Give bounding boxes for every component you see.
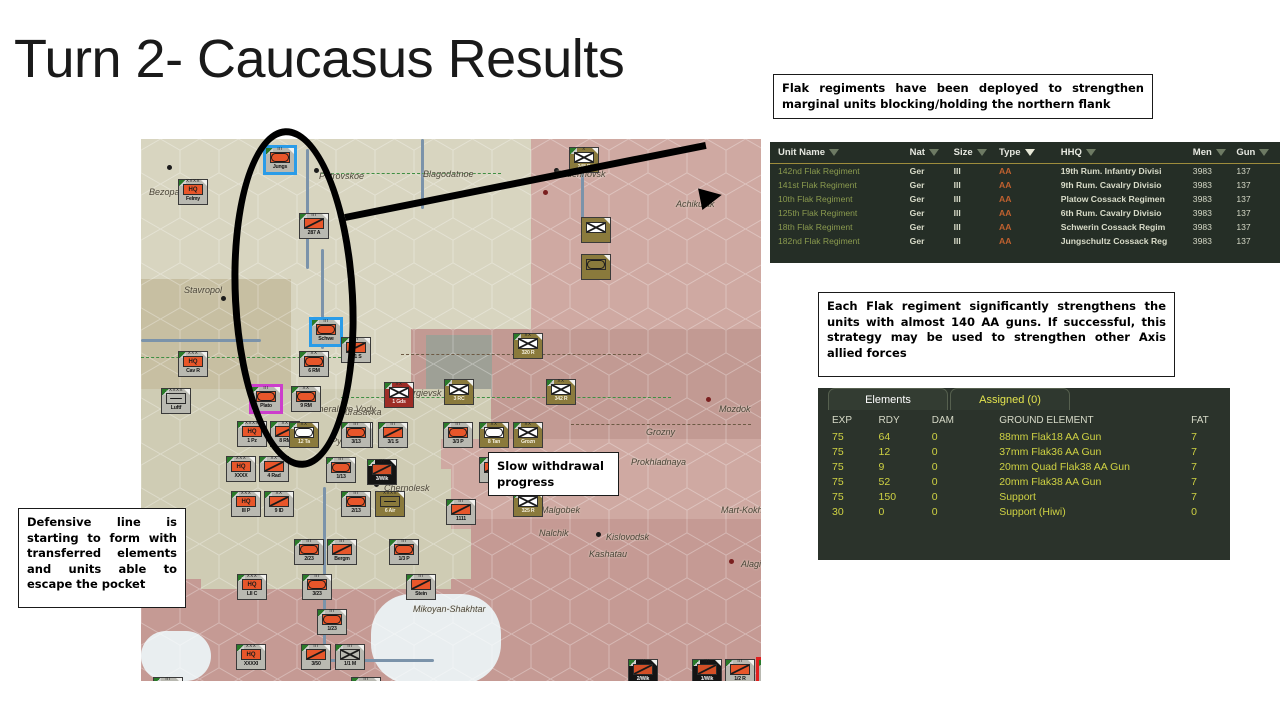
- nato-symbol-arm-icon: [332, 463, 350, 472]
- nato-symbol-inf-icon: [519, 428, 537, 437]
- counter-symbol-box: [586, 259, 606, 270]
- counter-corner-marker: [374, 678, 380, 681]
- counter-unit-label: 3/13: [351, 440, 360, 445]
- unit-counter-3-1-s[interactable]: III3/1 S: [378, 422, 408, 448]
- counter-size-label: III: [347, 644, 352, 649]
- counter-size-label: XXX: [246, 644, 257, 649]
- unit-counter-3-3-p[interactable]: III3/3 P: [443, 422, 473, 448]
- counter-symbol-box: [697, 664, 717, 675]
- nato-symbol-hq-icon: HQ: [237, 497, 255, 506]
- counter-unit-label: Cav R: [186, 369, 200, 374]
- unit-counter-1-2-r[interactable]: III1/2 R: [725, 659, 755, 681]
- elements-cell-rdy: 0: [879, 504, 932, 519]
- elements-row[interactable]: 7552020mm Flak38 AA Gun7: [818, 474, 1230, 489]
- nato-symbol-cav-icon: [270, 497, 288, 506]
- map-place-alagir: Alagir: [741, 559, 761, 569]
- nato-symbol-inf-icon: [390, 388, 408, 397]
- unit-counter-iii-p[interactable]: XXXHQIII P: [231, 491, 261, 517]
- counter-size-label: III: [640, 659, 645, 664]
- elements-cell-fat: 0: [1191, 504, 1230, 519]
- cell-size: III: [954, 164, 999, 179]
- table-row[interactable]: 142nd Flak RegimentGerIIIAA19th Rum. Inf…: [770, 164, 1280, 179]
- elements-cell-fat: 7: [1191, 489, 1230, 504]
- elements-column-header-element[interactable]: GROUND ELEMENT: [999, 412, 1191, 429]
- elements-cell-rdy: 64: [879, 429, 932, 444]
- unit-counter-xxxx[interactable]: XXXHQXXXX: [226, 456, 256, 482]
- elements-cell-fat: 7: [1191, 474, 1230, 489]
- unit-counter-1-wik[interactable]: III1/Wik: [692, 659, 722, 681]
- cell-name: 18th Flak Regiment: [770, 220, 910, 234]
- unit-counter-cav-r[interactable]: XXXHQCav R: [178, 351, 208, 377]
- counter-size-label: III: [313, 644, 318, 649]
- callout-slow-withdrawal: Slow withdrawal progress: [488, 452, 619, 496]
- filter-funnel-icon[interactable]: [1259, 149, 1269, 156]
- elements-cell-rdy: 150: [879, 489, 932, 504]
- cell-men: 3983: [1193, 178, 1237, 192]
- elements-cell-exp: 75: [818, 459, 879, 474]
- counter-symbol-box: [307, 579, 327, 590]
- counter-size-label: III: [704, 659, 709, 664]
- counter-unit-label: 3 RC: [453, 397, 464, 402]
- counter-unit-label: Felmy: [186, 197, 200, 202]
- counter-unit-label: XXXX: [234, 474, 247, 479]
- unit-counter-3-tan[interactable]: III3 Tan: [758, 659, 761, 681]
- unit-counter-bergm[interactable]: IIIBergm: [327, 539, 357, 565]
- column-header-label: Type: [999, 147, 1020, 158]
- counter-symbol-box: HQ: [183, 356, 203, 367]
- filter-funnel-icon[interactable]: [1025, 149, 1035, 156]
- map-place-kashatau: Kashatau: [589, 549, 627, 559]
- cell-size: III: [954, 234, 999, 248]
- cell-type: AA: [999, 206, 1061, 220]
- filter-funnel-icon[interactable]: [1086, 149, 1096, 156]
- map-place-prokhladnaya: Prokhladnaya: [631, 457, 686, 467]
- counter-unit-label: 325 R: [522, 509, 535, 514]
- elements-column-header-fat[interactable]: FAT: [1191, 412, 1230, 429]
- counter-unit-label: XXXXI: [244, 662, 258, 667]
- counter-size-label: III: [353, 491, 358, 496]
- counter-size-label: XXX: [188, 351, 199, 356]
- unit-counter-felmy[interactable]: XXXXHQFelmy: [178, 179, 208, 205]
- unit-counter-stein[interactable]: IIIStein: [406, 574, 436, 600]
- nato-symbol-inf-icon: [575, 153, 593, 162]
- nato-symbol-cav-icon: [731, 665, 749, 674]
- unit-counter-3-23[interactable]: III3/23: [302, 574, 332, 600]
- counter-size-label: XX: [524, 422, 531, 427]
- counter-size-label: III: [353, 422, 358, 427]
- cell-hhq: Platow Cossack Regimen: [1061, 192, 1193, 206]
- counter-size-label: XX: [490, 422, 497, 427]
- callout-each-flak: Each Flak regiment significantly strengt…: [818, 292, 1175, 377]
- counter-unit-label: Grozn: [521, 440, 535, 445]
- counter-symbol-box: [411, 579, 431, 590]
- unit-counter-3-13[interactable]: III3/13: [341, 422, 371, 448]
- elements-column-header-exp[interactable]: EXP: [818, 412, 879, 429]
- counter-size-label: III: [455, 422, 460, 427]
- cell-name: 141st Flak Regiment: [770, 178, 910, 192]
- nato-symbol-air-icon: [381, 497, 399, 506]
- cell-name: 125th Flak Regiment: [770, 206, 910, 220]
- counter-symbol-box: [730, 664, 750, 675]
- nato-symbol-hq-icon: HQ: [184, 357, 202, 366]
- cell-size: III: [954, 206, 999, 220]
- counter-unit-label: 3/3 P: [452, 440, 463, 445]
- nato-symbol-inf-icon: [519, 339, 537, 348]
- unit-counter-1-4-m[interactable]: III1/4 M: [153, 677, 183, 681]
- cell-hhq: 6th Rum. Cavalry Divisio: [1061, 206, 1193, 220]
- elements-column-header-dam[interactable]: DAM: [932, 412, 999, 429]
- filter-funnel-icon[interactable]: [1216, 149, 1226, 156]
- map-place-mart-kokh: Mart-Kokh: [721, 505, 761, 515]
- unit-counter-342-r[interactable]: XX342 R: [546, 379, 576, 405]
- elements-cell-exp: 75: [818, 444, 879, 459]
- city-dot-stavropol: [221, 296, 226, 301]
- counter-unit-label: 3/1 S: [387, 440, 398, 445]
- elements-cell-fat: 7: [1191, 429, 1230, 444]
- cell-nat: Ger: [910, 206, 954, 220]
- unit-counter-1-3-p[interactable]: III1/3 P: [389, 539, 419, 565]
- counter-symbol-box: [346, 496, 366, 507]
- cell-men: 3983: [1193, 192, 1237, 206]
- counter-unit-label: 2/Wik: [637, 677, 650, 681]
- column-header-label: Size: [954, 147, 973, 158]
- elements-row[interactable]: 7564088mm Flak18 AA Gun7: [818, 429, 1230, 444]
- nato-symbol-arm-icon: [587, 260, 605, 269]
- nato-symbol-arm-icon: [308, 580, 326, 589]
- counter-size-label: III: [339, 539, 344, 544]
- elements-tab-bar[interactable]: ElementsAssigned (0): [818, 388, 1230, 410]
- nato-symbol-inf-icon: [341, 650, 359, 659]
- unit-counter-3-50[interactable]: III3/50: [301, 644, 331, 670]
- counter-symbol-box: [380, 496, 400, 507]
- counter-symbol-box: [389, 387, 409, 398]
- table-row[interactable]: 182nd Flak RegimentGerIIIAAJungschultz C…: [770, 234, 1280, 248]
- cell-size: III: [954, 178, 999, 192]
- nato-symbol-cav-icon: [634, 665, 652, 674]
- cell-type: AA: [999, 234, 1061, 248]
- unit-counter-8-tan[interactable]: XX8 Tan: [479, 422, 509, 448]
- counter-symbol-box: [551, 384, 571, 395]
- unit-counter-320-r[interactable]: XX320 R: [513, 333, 543, 359]
- counter-unit-label: 1/Wik: [701, 677, 714, 681]
- counter-symbol-box: HQ: [242, 579, 262, 590]
- column-header-men[interactable]: Men: [1193, 142, 1237, 164]
- cell-gun: 137: [1236, 234, 1280, 248]
- unit-list-body[interactable]: 142nd Flak RegimentGerIIIAA19th Rum. Inf…: [770, 164, 1280, 249]
- unit-counter-lii-c[interactable]: XXXHQLII C: [237, 574, 267, 600]
- counter-size-label: XX: [524, 333, 531, 338]
- cell-hhq: Schwerin Cossack Regim: [1061, 220, 1193, 234]
- elements-cell-dam: 0: [932, 474, 999, 489]
- column-header-gun[interactable]: Gun: [1236, 142, 1280, 164]
- unit-counter-3-rc[interactable]: 3 RC: [444, 379, 474, 405]
- counter-symbol-box: [394, 544, 414, 555]
- cell-type: AA: [999, 220, 1061, 234]
- counter-size-label: XXXX: [383, 491, 397, 496]
- elements-cell-rdy: 9: [879, 459, 932, 474]
- counter-unit-label: 342 R: [555, 397, 568, 402]
- nato-symbol-hq-icon: HQ: [242, 650, 260, 659]
- elements-cell-element: Support: [999, 489, 1191, 504]
- counter-unit-label: 3/23: [312, 592, 321, 597]
- unit-list-table: Unit NameNatSizeTypeHHQMenGun 142nd Flak…: [770, 142, 1280, 248]
- tab-elements[interactable]: Elements: [828, 388, 948, 410]
- elements-cell-element: 20mm Flak38 AA Gun: [999, 474, 1191, 489]
- cell-hhq: 9th Rum. Cavalry Divisio: [1061, 178, 1193, 192]
- unit-counter-2-13[interactable]: III2/13: [341, 491, 371, 517]
- column-header-label: Gun: [1236, 147, 1255, 158]
- counter-size-label: III: [314, 574, 319, 579]
- unit-counter-1-13[interactable]: III1/13: [326, 457, 356, 483]
- elements-cell-rdy: 12: [879, 444, 932, 459]
- counter-unit-label: 1/1 M: [344, 662, 356, 667]
- callout-each-flak-text: Each Flak regiment significantly strengt…: [827, 299, 1166, 361]
- column-header-label: Nat: [910, 147, 925, 158]
- unit-counter-xxxxi[interactable]: XXXHQXXXXI: [236, 644, 266, 670]
- cell-gun: 137: [1236, 178, 1280, 192]
- counter-size-label: III: [363, 677, 368, 681]
- counter-unit-label: III P: [242, 509, 250, 514]
- counter-symbol-box: [306, 649, 326, 660]
- nato-symbol-air-icon: [167, 394, 185, 403]
- counter-symbol-box: HQ: [241, 649, 261, 660]
- elements-table-header: EXPRDYDAMGROUND ELEMENTFAT: [818, 412, 1230, 429]
- nato-symbol-hq-icon: HQ: [243, 427, 261, 436]
- counter-unit-label: 3/Wik: [376, 477, 389, 482]
- nato-symbol-arm-icon: [395, 545, 413, 554]
- elements-table-body[interactable]: 7564088mm Flak18 AA Gun77512037mm Flak36…: [818, 429, 1230, 519]
- counter-unit-label: Stein: [415, 592, 427, 597]
- nato-symbol-cav-icon: [384, 428, 402, 437]
- column-header-label: HHQ: [1061, 147, 1082, 158]
- counter-symbol-box: [299, 544, 319, 555]
- counter-symbol-box: [331, 462, 351, 473]
- map-place-mozdok: Mozdok: [719, 404, 751, 414]
- counter-symbol-box: [448, 427, 468, 438]
- table-header-row: Unit NameNatSizeTypeHHQMenGun: [770, 142, 1280, 164]
- counter-size-label: III: [165, 677, 170, 681]
- game-map[interactable]: PetrovskoeBlagodatnoeBudennovskAchikulak…: [141, 139, 761, 681]
- unit-counter-9-id[interactable]: XX9 ID: [264, 491, 294, 517]
- counter-symbol-box: [332, 544, 352, 555]
- unit-list-panel[interactable]: Unit NameNatSizeTypeHHQMenGun 142nd Flak…: [770, 142, 1280, 263]
- counter-size-label: III: [401, 539, 406, 544]
- map-place-grozny: Grozny: [646, 427, 675, 437]
- counter-size-label: XXX: [241, 491, 252, 496]
- city-dot-bezopasnoe: [167, 165, 172, 170]
- unit-counter-2-1-m[interactable]: III2/1 M: [351, 677, 381, 681]
- counter-unit-label: 1 Gds: [392, 400, 405, 405]
- counter-unit-label: Bergm: [334, 557, 349, 562]
- table-row[interactable]: 10th Flak RegimentGerIIIAAPlatow Cossack…: [770, 192, 1280, 206]
- cell-size: III: [954, 192, 999, 206]
- counter-unit-label: 2/13: [351, 509, 360, 514]
- counter-size-label: XX: [557, 379, 564, 384]
- counter-size-label: III: [737, 659, 742, 664]
- elements-row[interactable]: 759020mm Quad Flak38 AA Gun7: [818, 459, 1230, 474]
- elements-panel[interactable]: ElementsAssigned (0) EXPRDYDAMGROUND ELE…: [818, 388, 1230, 560]
- cell-men: 3983: [1193, 206, 1237, 220]
- elements-cell-dam: 0: [932, 459, 999, 474]
- cell-type: AA: [999, 178, 1061, 192]
- elements-cell-dam: 0: [932, 444, 999, 459]
- unit-counter-2-wik[interactable]: III2/Wik: [628, 659, 658, 681]
- counter-unit-label: 9 ID: [275, 509, 284, 514]
- counter-unit-label: 1/3 P: [398, 557, 409, 562]
- counter-unit-label: 1/23: [327, 627, 336, 632]
- elements-row[interactable]: 751500Support7: [818, 489, 1230, 504]
- map-place-blagodatnoe: Blagodatnoe: [423, 169, 474, 179]
- counter-unit-label: 1/13: [336, 475, 345, 480]
- counter-unit-label: Luftf: [171, 406, 182, 411]
- elements-cell-fat: 7: [1191, 459, 1230, 474]
- map-place-stavropol: Stavropol: [184, 285, 222, 295]
- counter-symbol-box: [269, 496, 289, 507]
- elements-cell-dam: 0: [932, 489, 999, 504]
- elements-cell-element: 37mm Flak36 AA Gun: [999, 444, 1191, 459]
- counter-size-label: III: [418, 574, 423, 579]
- counter-symbol-box: [346, 427, 366, 438]
- counter-size-label: XXX: [236, 456, 247, 461]
- counter-symbol-box: [518, 496, 538, 507]
- cell-nat: Ger: [910, 192, 954, 206]
- nato-symbol-cav-icon: [698, 665, 716, 674]
- column-header-name[interactable]: Unit Name: [770, 142, 910, 164]
- counter-symbol-box: [518, 427, 538, 438]
- elements-cell-fat: 7: [1191, 444, 1230, 459]
- soviet-flag-icon: [154, 678, 161, 681]
- counter-size-label: X: [582, 147, 586, 152]
- cell-name: 142nd Flak Regiment: [770, 164, 910, 179]
- counter-unit-label: 1 Pz: [247, 439, 257, 444]
- counter-symbol-box: [451, 504, 471, 515]
- unit-counter-2-23[interactable]: III2/23: [294, 539, 324, 565]
- nato-symbol-hq-icon: HQ: [243, 580, 261, 589]
- map-place-malgobek: Malgobek: [541, 505, 580, 515]
- soviet-flag-icon: [352, 678, 359, 681]
- unit-counter-4[interactable]: [581, 217, 611, 243]
- table-row[interactable]: 18th Flak RegimentGerIIIAASchwerin Cossa…: [770, 220, 1280, 234]
- annotation-arrow-head: [698, 184, 724, 210]
- filter-funnel-icon[interactable]: [977, 149, 987, 156]
- column-header-nat[interactable]: Nat: [910, 142, 954, 164]
- elements-cell-rdy: 52: [879, 474, 932, 489]
- table-row[interactable]: 125th Flak RegimentGerIIIAA6th Rum. Cava…: [770, 206, 1280, 220]
- counter-symbol-box: [484, 427, 504, 438]
- nato-symbol-cav-icon: [373, 465, 391, 474]
- unit-counter-grozn[interactable]: XXGrozn: [513, 422, 543, 448]
- cell-hhq: Jungschultz Cossack Reg: [1061, 234, 1193, 248]
- nato-symbol-hq-icon: HQ: [184, 185, 202, 194]
- map-place-mikoyan-shakhtar: Mikoyan-Shakhtar: [413, 604, 486, 614]
- counter-symbol-box: HQ: [183, 184, 203, 195]
- cell-nat: Ger: [910, 234, 954, 248]
- filter-funnel-icon[interactable]: [929, 149, 939, 156]
- elements-cell-element: 88mm Flak18 AA Gun: [999, 429, 1191, 444]
- table-row[interactable]: 141st Flak RegimentGerIIIAA9th Rum. Cava…: [770, 178, 1280, 192]
- cell-gun: 137: [1236, 192, 1280, 206]
- counter-symbol-box: [633, 664, 653, 675]
- cell-men: 3983: [1193, 164, 1237, 179]
- soviet-flag-icon: [759, 660, 761, 666]
- unit-counter-3-wik[interactable]: III3/Wik: [367, 459, 397, 485]
- cell-name: 10th Flak Regiment: [770, 192, 910, 206]
- callout-defensive-line: Defensive line is starting to form with …: [18, 508, 186, 608]
- counter-symbol-box: [322, 614, 342, 625]
- unit-counter-6-air[interactable]: XXXX6 Air: [375, 491, 405, 517]
- counter-unit-label: 4 Rad: [267, 474, 280, 479]
- column-header-hhq[interactable]: HHQ: [1061, 142, 1193, 164]
- elements-cell-element: Support (Hiwi): [999, 504, 1191, 519]
- elements-cell-exp: 30: [818, 504, 879, 519]
- unit-counter-1-gds[interactable]: XX1 Gds: [384, 382, 414, 408]
- unit-counter-1111[interactable]: III1111: [446, 499, 476, 525]
- cell-men: 3983: [1193, 234, 1237, 248]
- elements-cell-element: 20mm Quad Flak38 AA Gun: [999, 459, 1191, 474]
- page-title: Turn 2- Caucasus Results: [14, 32, 624, 86]
- tab-assigned-0-[interactable]: Assigned (0): [950, 388, 1070, 410]
- counter-unit-label: 8 Tan: [488, 440, 500, 445]
- counter-size-label: XXXX: [169, 388, 183, 393]
- nato-symbol-inf-icon: [519, 497, 537, 506]
- nato-symbol-cav-icon: [265, 462, 283, 471]
- counter-unit-label: 320 R: [522, 351, 535, 356]
- counter-symbol-box: HQ: [236, 496, 256, 507]
- counter-symbol-box: [518, 338, 538, 349]
- elements-cell-dam: 0: [932, 429, 999, 444]
- counter-symbol-box: [574, 152, 594, 163]
- nato-symbol-cav-icon: [333, 545, 351, 554]
- nato-symbol-cav-icon: [307, 650, 325, 659]
- cell-type: AA: [999, 164, 1061, 179]
- elements-column-header-rdy[interactable]: RDY: [879, 412, 932, 429]
- map-place-nalchik: Nalchik: [539, 528, 569, 538]
- elements-table: EXPRDYDAMGROUND ELEMENTFAT 7564088mm Fla…: [818, 412, 1230, 519]
- nato-symbol-arm-icon: [300, 545, 318, 554]
- column-header-label: Unit Name: [778, 147, 825, 158]
- unit-counter-luftf[interactable]: XXXXLuftf: [161, 388, 191, 414]
- counter-symbol-box: [264, 461, 284, 472]
- counter-size-label: III: [329, 609, 334, 614]
- unit-counter-5[interactable]: [581, 254, 611, 280]
- counter-size-label: XXX: [247, 574, 258, 579]
- unit-counter-1-1-m[interactable]: III1/1 M: [335, 644, 365, 670]
- counter-size-label: III: [379, 459, 384, 464]
- counter-symbol-box: [166, 393, 186, 404]
- counter-size-label: XXXX: [186, 179, 200, 184]
- unit-counter-1-23[interactable]: III1/23: [317, 609, 347, 635]
- elements-cell-exp: 75: [818, 429, 879, 444]
- counter-unit-label: 2/23: [304, 557, 313, 562]
- nato-symbol-arm-icon: [449, 428, 467, 437]
- nato-symbol-arm-icon: [485, 428, 503, 437]
- column-header-type[interactable]: Type: [999, 142, 1061, 164]
- cell-gun: 137: [1236, 220, 1280, 234]
- elements-row[interactable]: 7512037mm Flak36 AA Gun7: [818, 444, 1230, 459]
- counter-size-label: III: [458, 499, 463, 504]
- nato-symbol-cav-icon: [452, 505, 470, 514]
- counter-symbol-box: [383, 427, 403, 438]
- counter-size-label: XX: [275, 491, 282, 496]
- cell-men: 3983: [1193, 220, 1237, 234]
- nato-symbol-arm-icon: [323, 615, 341, 624]
- counter-unit-label: 1/2 R: [734, 677, 745, 681]
- filter-funnel-icon[interactable]: [829, 149, 839, 156]
- cell-nat: Ger: [910, 178, 954, 192]
- callout-slow-withdrawal-text: Slow withdrawal progress: [497, 459, 610, 490]
- elements-row[interactable]: 3000Support (Hiwi)0: [818, 504, 1230, 519]
- column-header-size[interactable]: Size: [954, 142, 999, 164]
